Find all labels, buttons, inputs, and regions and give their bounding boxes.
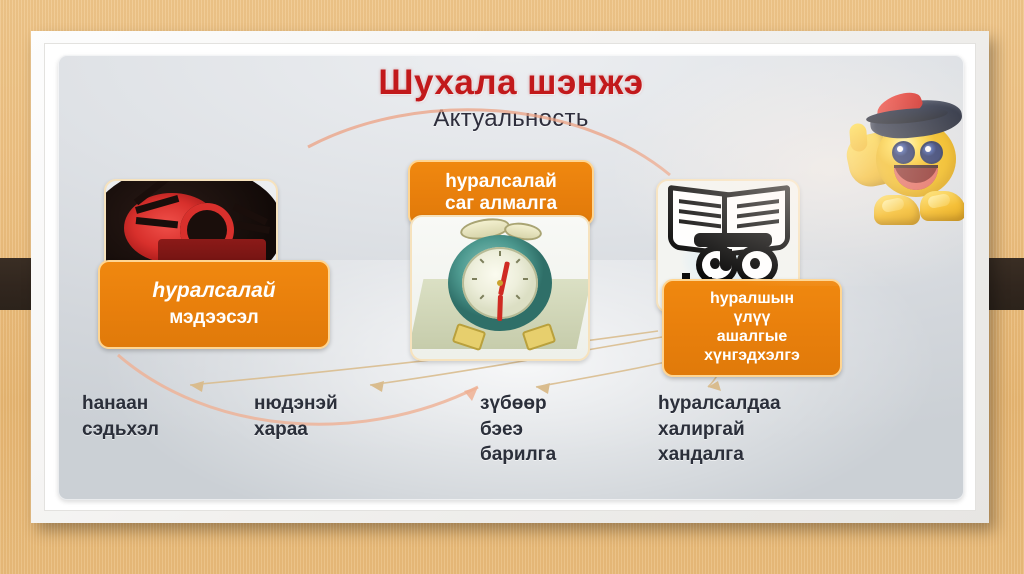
box-ease[interactable]: һуралшын үлүү ашалгые хүнгэдхэлгэ <box>662 279 842 377</box>
box-ease-line1: һуралшын <box>710 290 794 309</box>
caption-column-4: һуралсалдаа халиргай хандалга <box>658 391 781 468</box>
page-subtitle: Актуальность <box>58 105 964 133</box>
box-ease-line4: хүнгэдхэлгэ <box>704 347 800 366</box>
caption-column-3: зүбөөр бэеэ барилга <box>480 391 556 468</box>
caption-1-line2: сэдьхэл <box>82 417 159 443</box>
caption-3-line3: барилга <box>480 442 556 468</box>
box-ease-line2: үлүү <box>734 309 771 328</box>
caption-column-1: һанаан сэдьхэл <box>82 391 159 442</box>
box-info-line2: мэдээсэл <box>169 307 259 329</box>
caption-column-2: нюдэнэй хараа <box>254 391 338 442</box>
caption-1-line1: һанаан <box>82 391 159 417</box>
caption-3-line2: бэеэ <box>480 417 556 443</box>
caption-2-line1: нюдэнэй <box>254 391 338 417</box>
smiley-thumbs-up-mascot <box>848 83 964 233</box>
page-title: Шухала шэнжэ <box>58 63 964 103</box>
alarm-clock-icon <box>410 215 590 361</box>
caption-4-line3: хандалга <box>658 442 781 468</box>
caption-4-line2: халиргай <box>658 417 781 443</box>
caption-2-line2: хараа <box>254 417 338 443</box>
screenshot-stage: Шухала шэнжэ Актуальность <box>0 0 1024 574</box>
box-info-line1: һуралсалай <box>152 279 275 304</box>
caption-4-line1: һуралсалдаа <box>658 391 781 417</box>
presentation-slide: Шухала шэнжэ Актуальность <box>58 55 964 500</box>
caption-3-line1: зүбөөр <box>480 391 556 417</box>
box-time-line1: һуралсалай <box>445 171 557 193</box>
box-time-line2: саг алмалга <box>445 193 557 215</box>
box-info[interactable]: һуралсалай мэдээсэл <box>98 260 330 349</box>
box-ease-line3: ашалгые <box>717 328 788 347</box>
